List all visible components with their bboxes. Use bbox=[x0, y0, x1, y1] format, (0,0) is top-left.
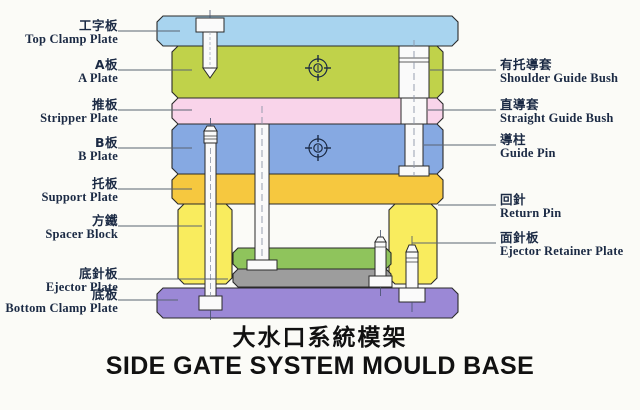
plate-ejector bbox=[233, 269, 391, 287]
label-b-plate-en: B Plate bbox=[0, 150, 118, 163]
label-a-plate-en: A Plate bbox=[0, 72, 118, 85]
diagram-stage: 工字板 Top Clamp Plate A板 A Plate 推板 Stripp… bbox=[0, 0, 640, 410]
label-bottom-clamp-plate: 底板 Bottom Clamp Plate bbox=[0, 289, 118, 315]
label-ejector-retainer-plate-en: Ejector Retainer Plate bbox=[500, 245, 640, 258]
label-guide-pin-cn: 導柱 bbox=[500, 134, 640, 147]
label-straight-guide-bush-cn: 直導套 bbox=[500, 99, 640, 112]
title-chinese: 大水口系統模架 bbox=[0, 318, 640, 352]
label-b-plate: B板 B Plate bbox=[0, 137, 118, 163]
label-support-plate-en: Support Plate bbox=[0, 191, 118, 204]
label-shoulder-guide-bush-cn: 有托導套 bbox=[500, 59, 640, 72]
label-spacer-block-en: Spacer Block bbox=[0, 228, 118, 241]
label-straight-guide-bush-en: Straight Guide Bush bbox=[500, 112, 640, 125]
label-support-plate: 托板 Support Plate bbox=[0, 178, 118, 204]
label-spacer-block-cn: 方鐵 bbox=[0, 215, 118, 228]
label-top-clamp-plate-en: Top Clamp Plate bbox=[0, 33, 118, 46]
label-bottom-clamp-plate-cn: 底板 bbox=[0, 289, 118, 302]
label-return-pin-cn: 回針 bbox=[500, 194, 640, 207]
title-english: SIDE GATE SYSTEM MOULD BASE bbox=[0, 352, 640, 381]
label-straight-guide-bush: 直導套 Straight Guide Bush bbox=[500, 99, 640, 125]
label-top-clamp-plate: 工字板 Top Clamp Plate bbox=[0, 20, 118, 46]
label-b-plate-cn: B板 bbox=[0, 137, 118, 150]
label-stripper-plate: 推板 Stripper Plate bbox=[0, 99, 118, 125]
title-block: 大水口系統模架 SIDE GATE SYSTEM MOULD BASE bbox=[0, 318, 640, 381]
label-bottom-clamp-plate-en: Bottom Clamp Plate bbox=[0, 302, 118, 315]
label-spacer-block: 方鐵 Spacer Block bbox=[0, 215, 118, 241]
label-return-pin: 回針 Return Pin bbox=[500, 194, 640, 220]
label-shoulder-guide-bush-en: Shoulder Guide Bush bbox=[500, 72, 640, 85]
label-return-pin-en: Return Pin bbox=[500, 207, 640, 220]
label-guide-pin-en: Guide Pin bbox=[500, 147, 640, 160]
label-a-plate: A板 A Plate bbox=[0, 59, 118, 85]
label-ejector-retainer-plate: 面針板 Ejector Retainer Plate bbox=[500, 232, 640, 258]
label-a-plate-cn: A板 bbox=[0, 59, 118, 72]
label-ejector-retainer-plate-cn: 面針板 bbox=[500, 232, 640, 245]
label-top-clamp-plate-cn: 工字板 bbox=[0, 20, 118, 33]
label-ejector-plate-cn: 底針板 bbox=[0, 268, 118, 281]
label-support-plate-cn: 托板 bbox=[0, 178, 118, 191]
label-stripper-plate-en: Stripper Plate bbox=[0, 112, 118, 125]
label-guide-pin: 導柱 Guide Pin bbox=[500, 134, 640, 160]
label-stripper-plate-cn: 推板 bbox=[0, 99, 118, 112]
label-shoulder-guide-bush: 有托導套 Shoulder Guide Bush bbox=[500, 59, 640, 85]
